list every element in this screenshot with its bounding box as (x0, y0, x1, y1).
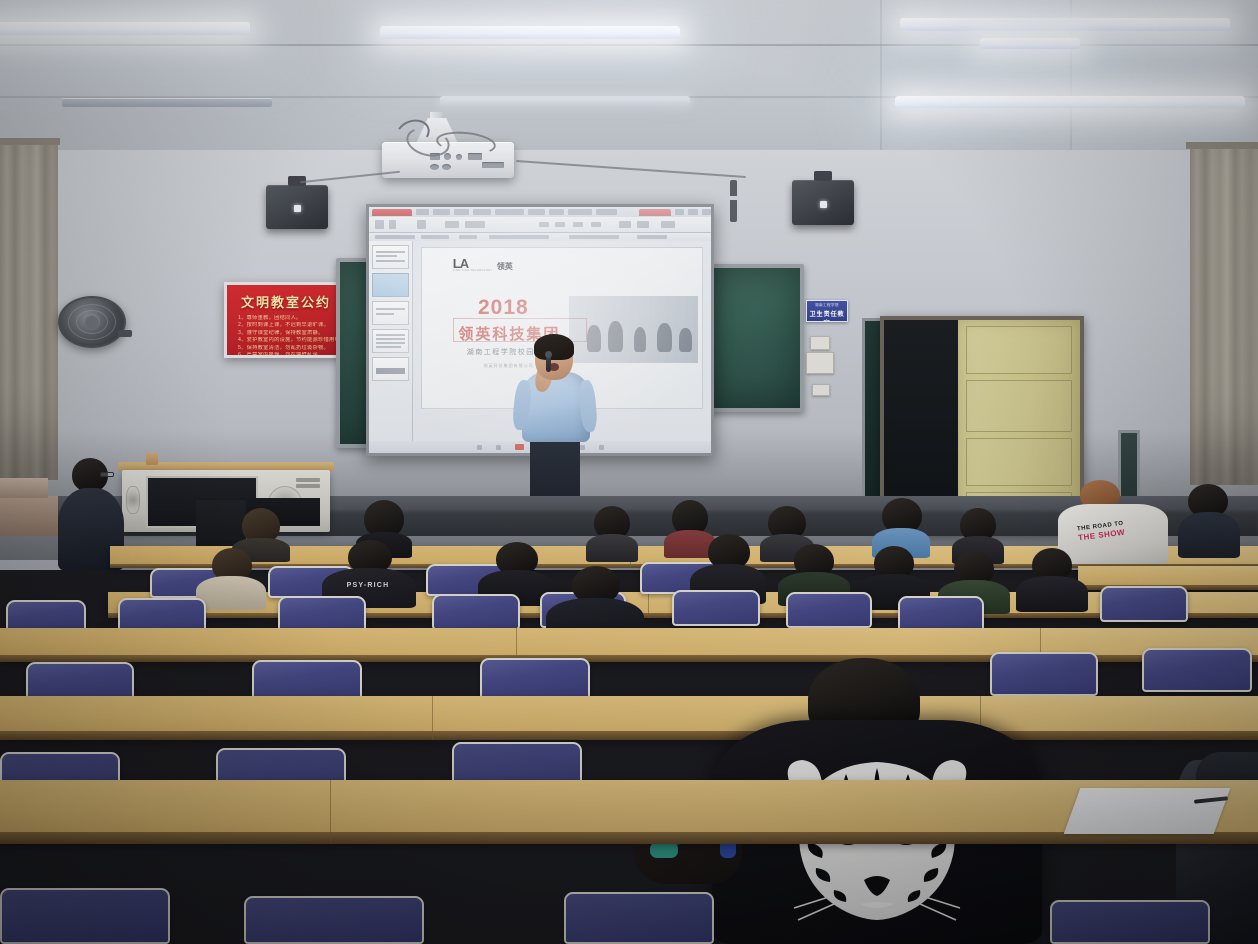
chair[interactable] (898, 596, 984, 632)
ceiling-light-tube (900, 18, 1230, 31)
wall-speaker-right (792, 180, 854, 225)
student (690, 534, 766, 598)
sign-text: 卫生责任教室 (807, 309, 847, 322)
poster-line: 1、尊师重教，团结同人。 (233, 315, 339, 322)
handheld-microphone[interactable] (546, 356, 551, 372)
student (952, 508, 1004, 558)
wall-notice (806, 352, 834, 374)
poster-line: 3、遵守课堂纪律，保持教室肃静。 (233, 330, 339, 337)
jacket-text: PSY-RICH (336, 582, 400, 589)
ceiling-beam (880, 0, 882, 150)
ceiling-light-tube (0, 22, 250, 35)
microphone-head (545, 351, 552, 358)
student-far-right (1178, 484, 1240, 554)
poster-line: 4、爱护教室内的设施，节约能源珍惜用电。 (233, 337, 339, 344)
desk-row-1 (0, 780, 1258, 844)
slide-thumbnail[interactable] (372, 245, 409, 269)
ceiling-light-tube (440, 96, 690, 105)
presenter (508, 334, 604, 520)
student (586, 506, 638, 556)
hygiene-responsibility-sign: 湖南工程学院 卫生责任教室 (806, 300, 848, 322)
poster-line: 2、按时到课上课，不迟到早退旷课。 (233, 322, 339, 329)
wall-mounted-fan[interactable] (58, 296, 126, 348)
chair[interactable] (1050, 900, 1210, 944)
student (1016, 548, 1088, 606)
wall-speaker-left (266, 185, 328, 229)
presenter-head (535, 336, 573, 380)
ppt-titlebar (369, 207, 711, 217)
chair[interactable] (0, 888, 170, 944)
ppt-app-tab[interactable] (372, 209, 412, 216)
ceiling-light-tube-off (62, 98, 272, 107)
wall-notice (812, 384, 830, 396)
wall-notice (810, 336, 830, 350)
console-vent-slot (296, 484, 320, 488)
eyeglasses (100, 472, 114, 477)
chair[interactable] (786, 592, 872, 628)
presenter-hair (534, 334, 574, 360)
student-beige-hood (196, 548, 266, 604)
student (478, 542, 554, 600)
stacked-items (0, 478, 48, 498)
slide-logo: LA LING YING TECHNOLOGY 领英 (453, 258, 513, 272)
ceiling-light-tube (980, 38, 1080, 49)
chair[interactable] (480, 658, 590, 700)
chair[interactable] (564, 892, 714, 944)
chalkboard-right (708, 264, 804, 412)
chair[interactable] (432, 594, 520, 630)
logo-cn: 领英 (497, 261, 513, 272)
student-psy-rich: PSY-RICH (322, 540, 416, 602)
chair[interactable] (278, 596, 366, 632)
console-cup[interactable] (146, 453, 158, 465)
wall-bracket (730, 180, 737, 222)
slide-year: 2018 (478, 296, 529, 320)
chair[interactable] (1142, 648, 1252, 692)
curtain-right (1190, 145, 1258, 485)
poster-title: 文明教室公约 (233, 292, 339, 311)
chair[interactable] (672, 590, 760, 626)
desk-row-2 (0, 696, 1258, 740)
stacked-books (0, 496, 58, 536)
console-speaker-vent (126, 486, 140, 514)
curtain-rail-left (0, 138, 60, 145)
paper-sheet[interactable] (1064, 788, 1231, 834)
student (546, 566, 644, 636)
ppt-ribbon[interactable] (369, 217, 711, 233)
logo-sub: LING YING TECHNOLOGY (453, 269, 493, 272)
fan-mount-arm (118, 330, 132, 337)
curtain-left (0, 140, 58, 480)
logo-mark: LA (453, 258, 493, 269)
poster-line: 6、严禁室内吸烟，勿在墙壁乱涂。 (233, 352, 339, 358)
ceiling-light-tube (895, 96, 1245, 108)
poster-line: 5、保持教室清洁，勿乱扔垃圾杂物。 (233, 345, 339, 352)
slide-thumbnail[interactable] (372, 273, 409, 297)
classroom-code-poster: 文明教室公约 1、尊师重教，团结同人。 2、按时到课上课，不迟到早退旷课。 3、… (224, 282, 348, 358)
slide-thumbnail[interactable] (372, 329, 409, 353)
wall-bracket-arm (708, 196, 738, 200)
ppt-slide-thumbnails[interactable] (369, 241, 413, 441)
console-vent-slot (296, 478, 320, 482)
curtain-rail-right (1186, 142, 1258, 149)
chair[interactable] (244, 896, 424, 944)
slide-thumbnail[interactable] (372, 301, 409, 325)
ceiling-light-tube (380, 26, 680, 39)
slide-thumbnail[interactable] (372, 357, 409, 381)
ppt-format-bar[interactable] (369, 233, 711, 241)
classroom-scene: 文明教室公约 1、尊师重教，团结同人。 2、按时到课上课，不迟到早退旷课。 3、… (0, 0, 1258, 944)
sign-org: 湖南工程学院 (807, 303, 847, 308)
chair[interactable] (1100, 586, 1188, 622)
